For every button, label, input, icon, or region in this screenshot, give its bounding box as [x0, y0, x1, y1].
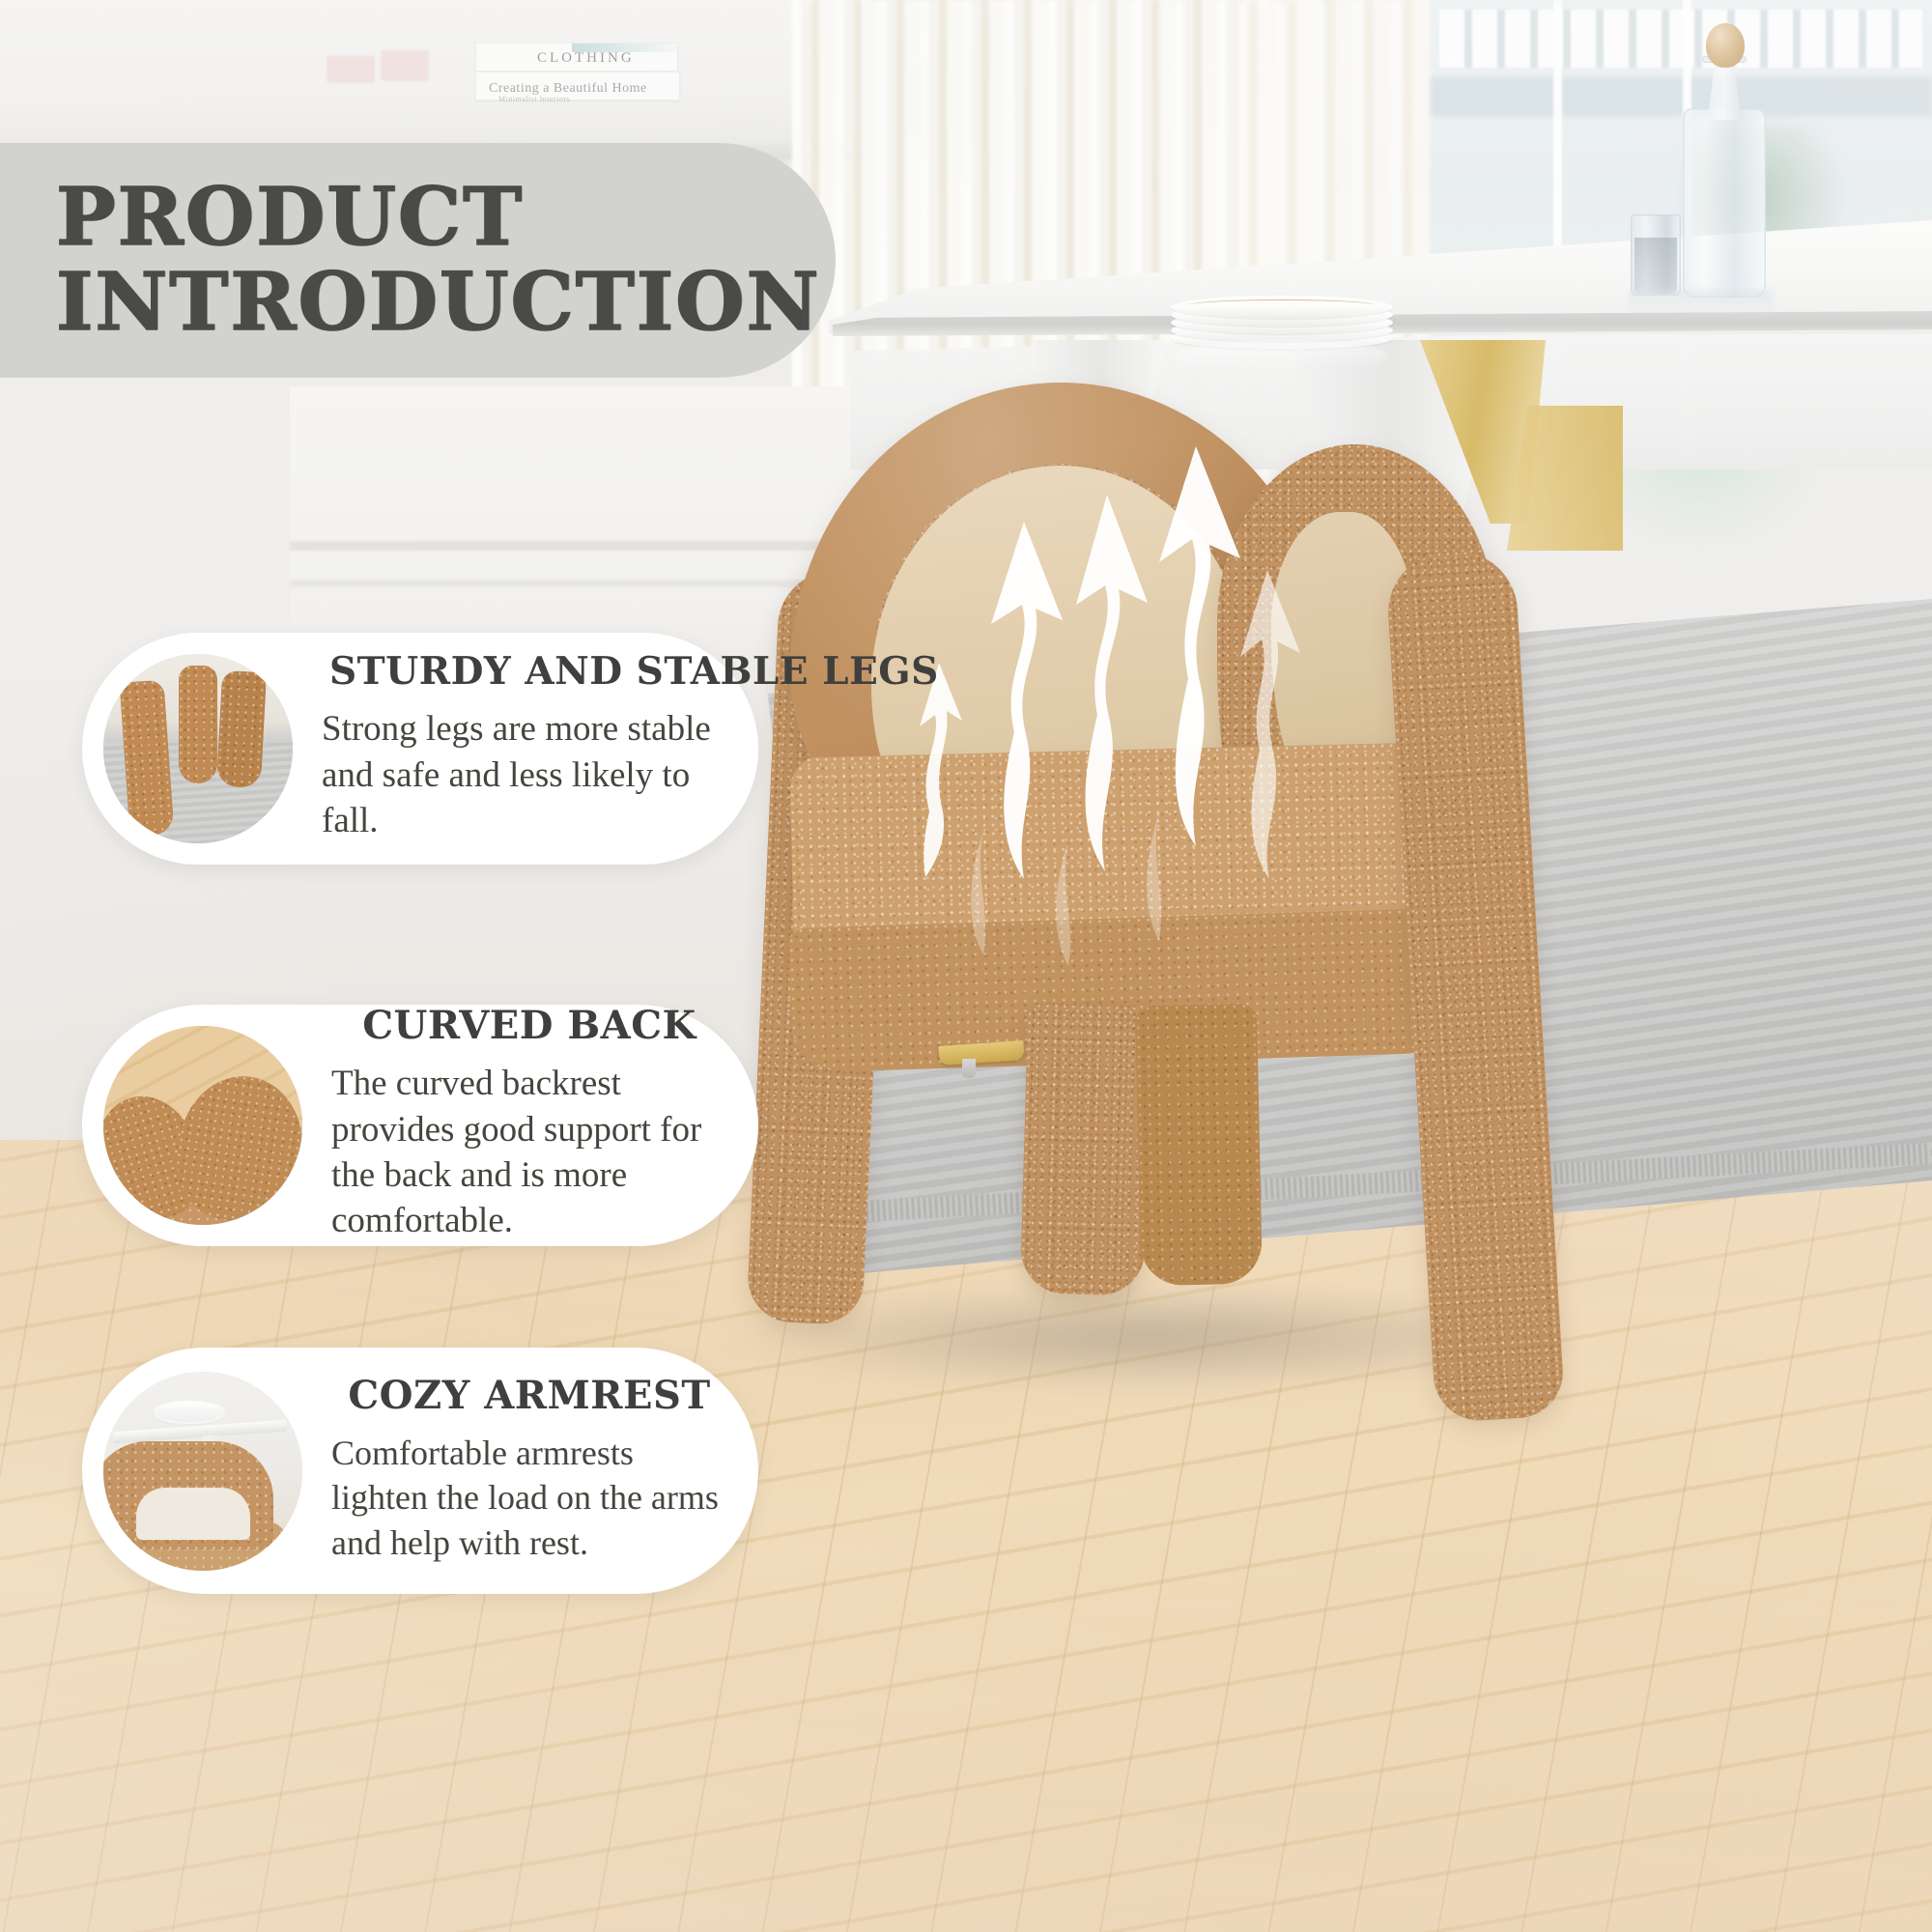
- feature-heading-cozy-armrest: COZY ARMREST: [340, 1377, 718, 1421]
- feature-card-cozy-armrest[interactable]: COZY ARMREST Comfortable armrests lighte…: [82, 1348, 758, 1594]
- feature-heading-curved-back: CURVED BACK: [355, 1007, 704, 1051]
- window-reflection-band: [1430, 77, 1932, 116]
- feature-text-sturdy-legs: STURDY AND STABLE LEGS Strong legs are m…: [293, 653, 733, 843]
- chair-front-leg-right: [1135, 1004, 1263, 1287]
- product-introduction-banner: CLOTHING Creating a Beautiful Home Minim…: [0, 0, 1932, 1932]
- feature-card-curved-back[interactable]: CURVED BACK The curved backrest provides…: [82, 1005, 758, 1246]
- feature-body-sturdy-legs: Strong legs are more stable and safe and…: [322, 706, 727, 843]
- glassware-reflection: [1629, 290, 1774, 323]
- feature-heading-sturdy-legs: STURDY AND STABLE LEGS: [322, 653, 947, 696]
- decor-cup-left: [327, 56, 375, 83]
- page-title-line-2: INTRODUCTION: [56, 261, 836, 346]
- feature-text-curved-back: CURVED BACK The curved backrest provides…: [302, 1007, 733, 1243]
- chair-front-leg-left: [1020, 1003, 1151, 1295]
- page-title-line-1: PRODUCT: [56, 176, 836, 261]
- book-title-clothing: CLOTHING: [537, 50, 635, 67]
- plates-reflection: [1175, 340, 1389, 373]
- feature-thumbnail-legs: [103, 654, 293, 843]
- book-subtitle-home: Minimalist Interiors: [498, 95, 570, 103]
- feature-body-curved-back: The curved backrest provides good suppor…: [331, 1061, 727, 1243]
- glass-water: [1634, 238, 1677, 294]
- chair-brass-pin: [962, 1059, 976, 1078]
- page-title-badge: PRODUCT INTRODUCTION: [0, 143, 836, 378]
- glass-decanter: [1683, 108, 1766, 298]
- feature-body-cozy-armrest: Comfortable armrests lighten the load on…: [331, 1431, 727, 1564]
- chair-right-arm-post: [1384, 548, 1565, 1423]
- decor-cup-right: [381, 50, 429, 81]
- feature-text-cozy-armrest: COZY ARMREST Comfortable armrests lighte…: [302, 1377, 733, 1564]
- wall-shelf: [0, 0, 869, 159]
- wooden-ball-stopper: [1706, 23, 1745, 68]
- feature-thumbnail-curved-back: [103, 1026, 302, 1225]
- feature-card-sturdy-legs[interactable]: STURDY AND STABLE LEGS Strong legs are m…: [82, 633, 758, 865]
- feature-thumbnail-armrest: [103, 1372, 302, 1571]
- window-frame-grid: [1439, 10, 1922, 68]
